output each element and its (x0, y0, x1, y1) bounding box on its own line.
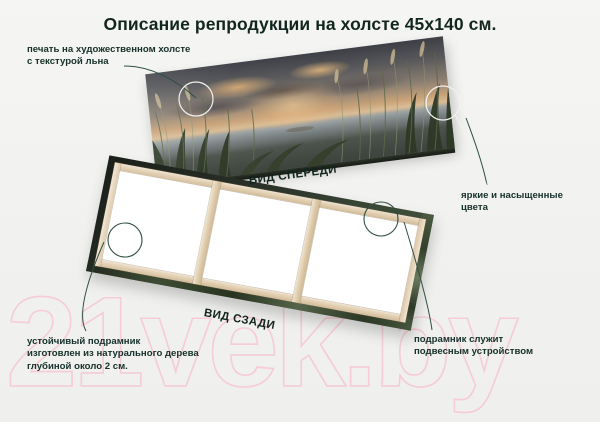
annotation-colors-line2: цвета (461, 202, 563, 214)
annotation-stretcher-line3: глубиной около 2 см. (27, 361, 199, 373)
annotation-print-texture-line1: печать на художественном холсте (27, 44, 190, 56)
annotation-print-texture-line2: с текстурой льна (27, 56, 190, 68)
canvas-artwork-image (145, 36, 454, 186)
annotation-stretcher-line2: изготовлен из натурального дерева (27, 348, 199, 360)
annotation-colors-line1: яркие и насыщенные (461, 190, 563, 202)
annotation-stretcher: устойчивый подрамник изготовлен из натур… (27, 336, 199, 373)
leader-colors (466, 118, 487, 185)
annotation-hanging-line1: подрамник служит (414, 334, 533, 346)
stretcher-cross-brace-1 (192, 180, 221, 284)
annotation-hanging: подрамник служит подвесным устройством (414, 334, 533, 359)
annotation-hanging-line2: подвесным устройством (414, 346, 533, 358)
leader-colors-highlight (455, 114, 487, 186)
product-description-graphic: 21vek.by Описание репродукции на холсте … (0, 0, 600, 422)
canvas-front-view (145, 36, 454, 186)
label-back-view: ВИД СЗАДИ (203, 307, 276, 332)
annotation-print-texture: печать на художественном холсте с тексту… (27, 44, 190, 69)
page-title: Описание репродукции на холсте 45х140 см… (0, 14, 600, 35)
annotation-stretcher-line1: устойчивый подрамник (27, 336, 199, 348)
stretcher-bar-bottom (94, 259, 406, 323)
annotation-colors: яркие и насыщенные цвета (461, 190, 563, 215)
stretcher-cross-brace-2 (292, 199, 321, 303)
canvas-gloss-overlay (145, 36, 454, 186)
reeds-silhouette (145, 36, 454, 186)
